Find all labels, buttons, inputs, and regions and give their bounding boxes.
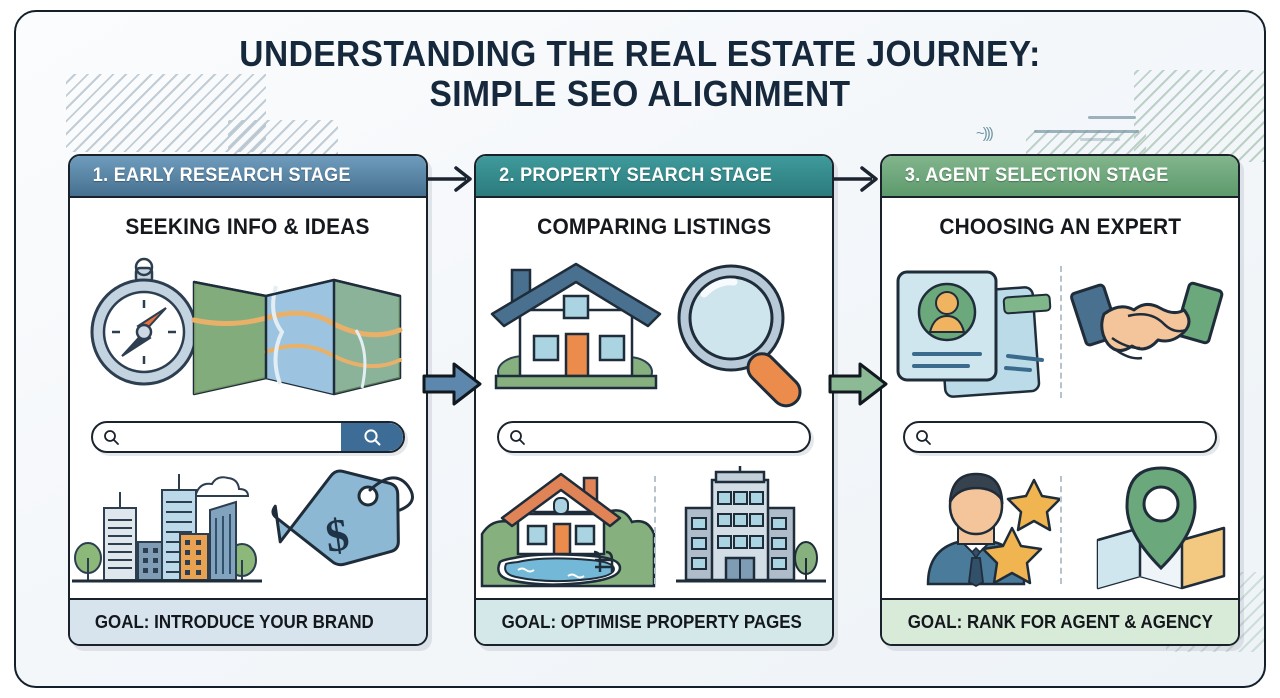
folded-map-icon	[194, 280, 400, 394]
city-and-pricetag-illustration: $	[70, 466, 428, 594]
art-divider-3-bottom	[1060, 476, 1062, 584]
search-input-1[interactable]	[91, 421, 405, 453]
stage-header-2: 2. PROPERTY SEARCH STAGE	[476, 156, 832, 198]
house-icon	[492, 264, 660, 388]
search-input-3[interactable]	[903, 421, 1217, 453]
stage-goal-3: GOAL: RANK FOR AGENT & AGENCY	[882, 598, 1238, 644]
house-with-pool-icon	[482, 474, 654, 586]
thin-arrow-stage2-to-stage3	[834, 164, 882, 194]
stage-subtitle-2: COMPARING LISTINGS	[476, 198, 832, 256]
search-bar-wrap-1	[70, 408, 426, 466]
search-icon	[915, 429, 932, 446]
swoosh-decoration-icon: ~)))	[976, 125, 992, 142]
decorative-line-1	[1088, 116, 1136, 119]
stage-header-3: 3. AGENT SELECTION STAGE	[882, 156, 1238, 198]
stage-goal-1: GOAL: INTRODUCE YOUR BRAND	[70, 598, 426, 644]
profile-cards-icon	[898, 272, 1051, 397]
art-divider-3-top	[1060, 266, 1062, 398]
handshake-icon	[1070, 282, 1222, 358]
search-icon	[103, 429, 120, 446]
stage-goal-2: GOAL: OPTIMISE PROPERTY PAGES	[476, 598, 832, 644]
stage-card-early-research[interactable]: 1. EARLY RESEARCH STAGE SEEKING INFO & I…	[68, 154, 428, 646]
stage-subtitle-3: CHOOSING AN EXPERT	[882, 198, 1238, 256]
search-submit-button-1[interactable]	[341, 423, 403, 451]
agent-with-stars-icon	[928, 474, 1060, 586]
magnifying-glass-icon	[679, 266, 806, 408]
stage-goal-label-1: GOAL: INTRODUCE YOUR BRAND	[95, 612, 374, 633]
city-skyline-icon	[72, 474, 262, 581]
stage-art-top-1	[70, 256, 426, 408]
compass-and-map-illustration	[70, 256, 428, 408]
stage-subtitle-1: SEEKING INFO & IDEAS	[70, 198, 426, 256]
house-and-magnifier-illustration	[476, 256, 834, 408]
search-icon	[509, 429, 526, 446]
infographic-poster: ~))) UNDERSTANDING THE REAL ESTATE JOURN…	[14, 10, 1266, 688]
map-pin-icon	[1098, 468, 1224, 588]
diagonal-hatch-decoration-top-left-small	[228, 120, 338, 154]
title-line-secondary: SIMPLE SEO ALIGNMENT	[60, 74, 1221, 114]
block-arrow-stage1-to-stage2	[422, 360, 482, 408]
search-bar-wrap-2	[476, 408, 832, 466]
stage-art-top-2	[476, 256, 832, 408]
search-icon	[363, 428, 382, 447]
decorative-line-3	[1080, 138, 1120, 141]
stage-header-label-3: 3. AGENT SELECTION STAGE	[905, 165, 1169, 187]
stage-card-agent-selection[interactable]: 3. AGENT SELECTION STAGE CHOOSING AN EXP…	[880, 154, 1240, 646]
art-divider-2	[654, 476, 656, 584]
stage-header-label-1: 1. EARLY RESEARCH STAGE	[93, 165, 351, 187]
stage-art-bottom-3	[882, 466, 1238, 594]
decorative-line-2	[1034, 130, 1139, 133]
stage-goal-label-3: GOAL: RANK FOR AGENT & AGENCY	[908, 612, 1213, 633]
search-input-2[interactable]	[497, 421, 811, 453]
apartment-building-icon	[676, 466, 826, 581]
stage-header-1: 1. EARLY RESEARCH STAGE	[70, 156, 426, 198]
stage-card-property-search[interactable]: 2. PROPERTY SEARCH STAGE COMPARING LISTI…	[474, 154, 834, 646]
star-icon	[1008, 480, 1060, 530]
stage-subtitle-label-2: COMPARING LISTINGS	[537, 214, 771, 240]
stage-header-label-2: 2. PROPERTY SEARCH STAGE	[499, 165, 772, 187]
stage-art-top-3	[882, 256, 1238, 408]
page-title: UNDERSTANDING THE REAL ESTATE JOURNEY: S…	[16, 34, 1264, 115]
search-bar-wrap-3	[882, 408, 1238, 466]
stage-subtitle-label-3: CHOOSING AN EXPERT	[939, 214, 1181, 240]
thin-arrow-stage1-to-stage2	[428, 164, 476, 194]
title-line-primary: UNDERSTANDING THE REAL ESTATE JOURNEY:	[60, 34, 1221, 74]
stage-subtitle-label-1: SEEKING INFO & IDEAS	[126, 214, 370, 240]
compass-icon	[92, 259, 196, 384]
block-arrow-stage2-to-stage3	[828, 360, 888, 408]
price-tag-icon: $	[269, 466, 413, 573]
stage-goal-label-2: GOAL: OPTIMISE PROPERTY PAGES	[502, 612, 802, 633]
stage-art-bottom-2	[476, 466, 832, 594]
stage-art-bottom-1: $	[70, 466, 426, 594]
